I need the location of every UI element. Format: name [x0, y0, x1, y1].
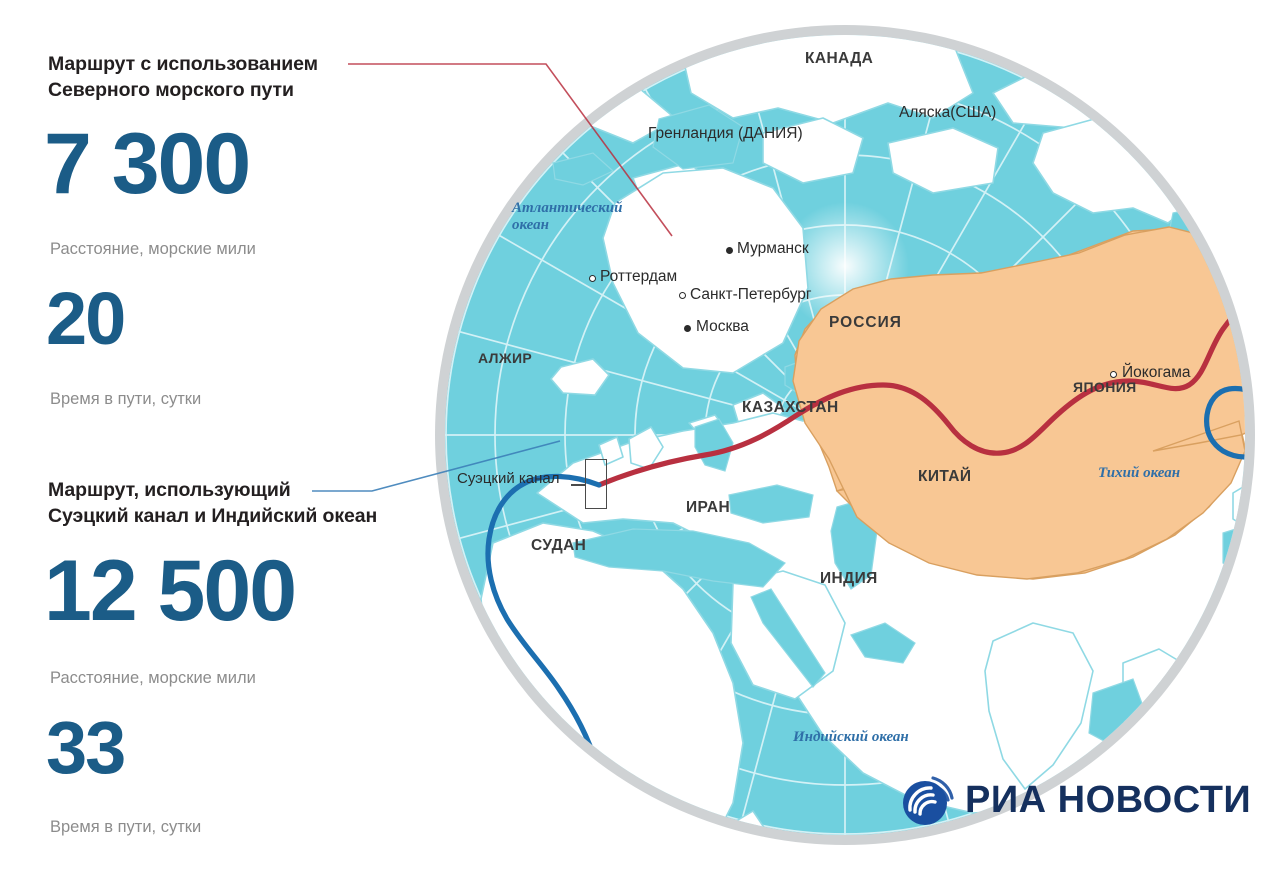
label-city-yokohama: Йокогама — [1122, 364, 1191, 382]
globe-svg — [433, 23, 1257, 847]
ria-globe-icon — [900, 772, 956, 828]
stat-distance-caption-suez: Расстояние, морские мили — [50, 669, 256, 689]
route-title-northern-sea: Маршрут с использованием Северного морск… — [48, 52, 358, 103]
label-country-canada: КАНАДА — [805, 50, 873, 68]
label-city-saint-petersburg: Санкт-Петербург — [690, 286, 812, 304]
city-dot-moscow — [684, 325, 691, 332]
infographic-canvas: КАНАДА Аляска(США) Гренландия (ДАНИЯ) РО… — [0, 0, 1280, 890]
city-dot-murmansk — [726, 247, 733, 254]
stat-time-caption-northern: Время в пути, сутки — [50, 390, 201, 410]
suez-canal-marker-box — [585, 459, 607, 509]
city-dot-yokohama — [1110, 371, 1117, 378]
label-suez-canal: Суэцкий канал — [457, 470, 560, 487]
stat-time-value-northern: 20 — [46, 284, 124, 354]
stat-distance-value-northern: 7 300 — [44, 124, 249, 206]
ria-logo-text: РИА НОВОСТИ — [965, 779, 1251, 822]
label-ocean-pacific: Тихий океан — [1098, 465, 1180, 482]
label-country-sudan: СУДАН — [531, 537, 586, 555]
city-dot-rotterdam — [589, 275, 596, 282]
ria-novosti-logo: РИА НОВОСТИ — [900, 772, 1251, 828]
route-title-suez: Маршрут, использующий Суэцкий канал и Ин… — [48, 478, 388, 529]
city-dot-saint-petersburg — [679, 292, 686, 299]
label-city-rotterdam: Роттердам — [600, 268, 677, 286]
label-city-moscow: Москва — [696, 318, 749, 336]
label-country-india: ИНДИЯ — [820, 570, 878, 588]
stat-distance-value-suez: 12 500 — [44, 551, 295, 633]
label-city-murmansk: Мурманск — [737, 240, 809, 258]
stat-time-value-suez: 33 — [46, 713, 124, 783]
label-country-algeria: АЛЖИР — [478, 350, 532, 366]
label-country-china: КИТАЙ — [918, 468, 971, 486]
label-country-russia: РОССИЯ — [829, 314, 902, 332]
stat-time-caption-suez: Время в пути, сутки — [50, 818, 201, 838]
label-ocean-atlantic: Атлантический океан — [512, 200, 623, 235]
globe-map — [433, 23, 1257, 847]
label-country-kazakhstan: КАЗАХСТАН — [742, 399, 839, 417]
suez-leader-tick — [571, 484, 586, 486]
label-ocean-indian: Индийский океан — [793, 729, 909, 746]
label-country-alaska: Аляска(США) — [899, 104, 996, 122]
stats-panel: Маршрут с использованием Северного морск… — [48, 0, 398, 890]
label-country-greenland: Гренландия (ДАНИЯ) — [648, 125, 803, 143]
label-country-iran: ИРАН — [686, 499, 730, 517]
stat-distance-caption-northern: Расстояние, морские мили — [50, 240, 256, 260]
